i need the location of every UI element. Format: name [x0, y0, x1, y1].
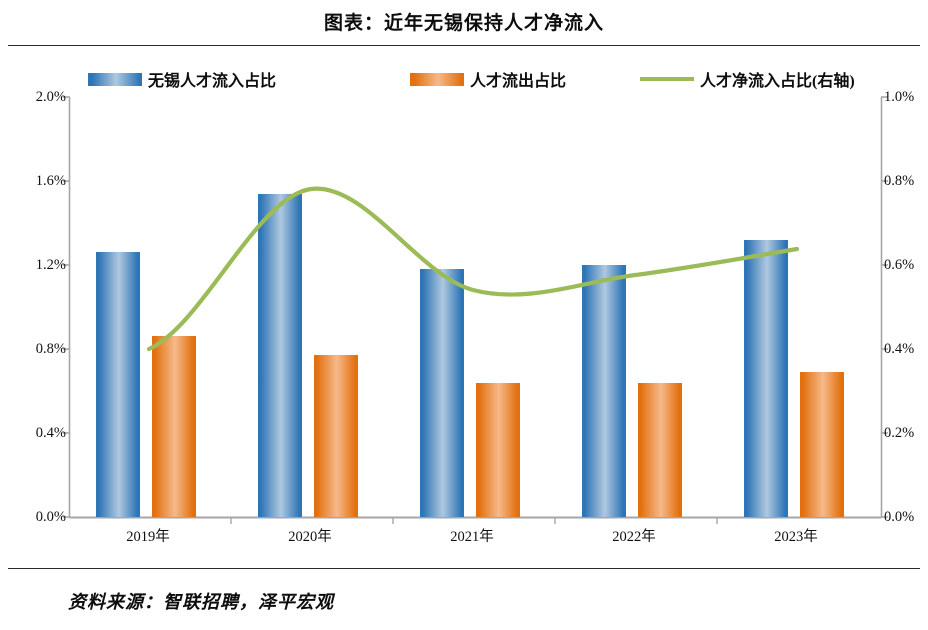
left-tick-1-6: 1.6%	[36, 173, 66, 190]
chart-figure: 图表：近年无锡保持人才净流入 无锡人才流入占比 人才流出占比 人才净流入占比(右…	[0, 0, 928, 630]
category-label-2022: 2022年	[592, 525, 676, 546]
right-tick-0-0: 0.0%	[884, 509, 914, 526]
category-label-2020: 2020年	[268, 525, 352, 546]
category-label-2019: 2019年	[106, 525, 190, 546]
left-tick-0-0: 0.0%	[36, 509, 66, 526]
bar-series-inflow	[96, 194, 788, 517]
bar-inflow-2021	[420, 269, 464, 517]
category-label-2023: 2023年	[754, 525, 838, 546]
bar-series-outflow	[152, 336, 844, 517]
right-tick-0-6: 0.6%	[884, 257, 914, 274]
right-tick-1-0: 1.0%	[884, 89, 914, 106]
left-tick-1-2: 1.2%	[36, 257, 66, 274]
bar-outflow-2020	[314, 355, 358, 517]
line-series-netinflow	[149, 189, 797, 349]
bar-inflow-2023	[744, 240, 788, 517]
bar-outflow-2023	[800, 372, 844, 517]
source-note: 资料来源：智联招聘，泽平宏观	[68, 588, 334, 614]
bar-inflow-2019	[96, 252, 140, 517]
right-tick-0-4: 0.4%	[884, 341, 914, 358]
right-tick-0-2: 0.2%	[884, 425, 914, 442]
bar-inflow-2022	[582, 265, 626, 517]
bar-inflow-2020	[258, 194, 302, 517]
bar-outflow-2021	[476, 383, 520, 517]
right-tick-0-8: 0.8%	[884, 173, 914, 190]
left-tick-2-0: 2.0%	[36, 89, 66, 106]
category-label-2021: 2021年	[430, 525, 514, 546]
bar-outflow-2019	[152, 336, 196, 517]
left-tick-0-8: 0.8%	[36, 341, 66, 358]
bar-outflow-2022	[638, 383, 682, 517]
left-tick-0-4: 0.4%	[36, 425, 66, 442]
